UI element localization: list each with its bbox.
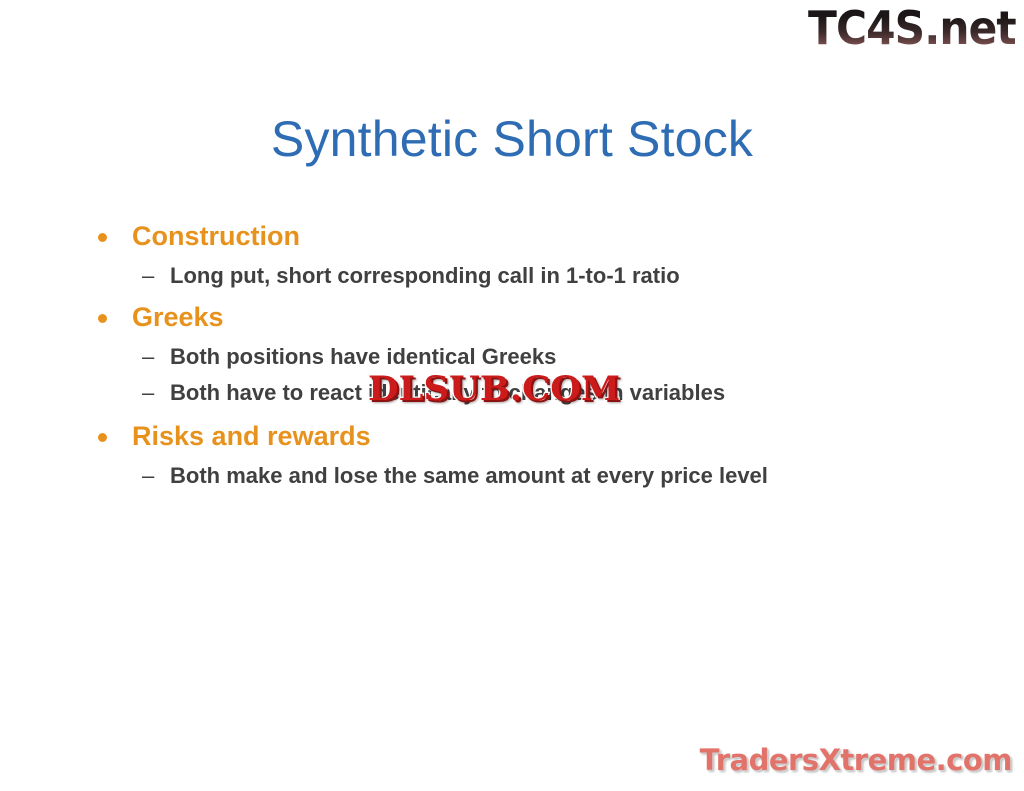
bullet-dot-icon	[98, 233, 107, 242]
tradersxtreme-footer-logo: TradersXtreme.com	[700, 743, 1012, 777]
sub-bullet-label: Long put, short corresponding call in 1-…	[170, 263, 680, 288]
en-dash-icon: –	[142, 341, 154, 372]
bullet-heading-construction: Construction	[86, 218, 964, 255]
tc4s-brand-logo: TC4S.net	[808, 2, 1016, 54]
bullet-dot-icon	[98, 433, 107, 442]
page-title: Synthetic Short Stock	[0, 108, 1024, 170]
bullet-heading-label: Greeks	[132, 302, 224, 332]
en-dash-icon: –	[142, 460, 154, 491]
bullet-heading-greeks: Greeks	[86, 299, 964, 336]
en-dash-icon: –	[142, 260, 154, 291]
sub-bullet-label: Both positions have identical Greeks	[170, 344, 556, 369]
sub-bullet-item: – Both make and lose the same amount at …	[86, 460, 930, 491]
bullet-group-construction: Construction – Long put, short correspon…	[86, 218, 964, 291]
sub-bullet-label: Both make and lose the same amount at ev…	[170, 463, 768, 488]
sub-bullet-item: – Both positions have identical Greeks	[86, 341, 930, 372]
bullet-group-risks-and-rewards: Risks and rewards – Both make and lose t…	[86, 418, 964, 491]
sub-bullet-item: – Long put, short corresponding call in …	[86, 260, 930, 291]
presentation-slide: TC4S.net Synthetic Short Stock Construct…	[0, 0, 1024, 791]
en-dash-icon: –	[142, 377, 154, 408]
bullet-heading-label: Risks and rewards	[132, 421, 371, 451]
slide-body-content: Construction – Long put, short correspon…	[86, 218, 964, 499]
bullet-heading-risks-and-rewards: Risks and rewards	[86, 418, 964, 455]
bullet-heading-label: Construction	[132, 221, 300, 251]
bullet-dot-icon	[98, 314, 107, 323]
dlsub-watermark: DLSUB.COM	[368, 369, 620, 409]
